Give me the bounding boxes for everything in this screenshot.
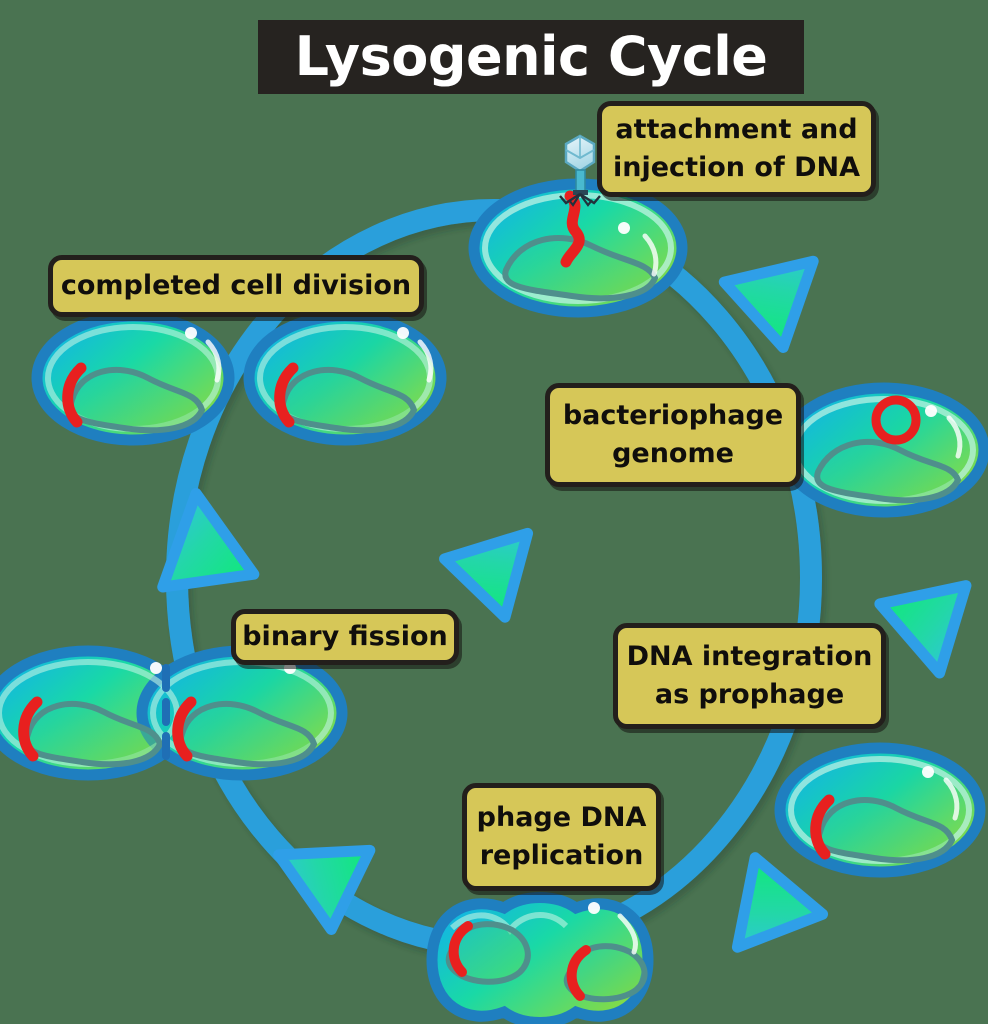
arrow-head-inner-top	[445, 504, 558, 617]
arrow-head-right	[880, 586, 983, 683]
label-dna-integration-as-prophage: DNA integration as prophage	[613, 623, 886, 729]
label-line: DNA integration	[627, 638, 873, 676]
label-completed-cell-division: completed cell division	[48, 255, 424, 317]
label-line: replication	[480, 837, 644, 875]
stage-integration-cell	[780, 748, 980, 872]
stage-genome-cell	[784, 388, 984, 512]
arrow-head-top-right	[724, 229, 842, 348]
label-line: as prophage	[655, 676, 844, 714]
stage-fission-cell	[0, 651, 342, 775]
label-line: injection of DNA	[613, 149, 860, 187]
label-binary-fission: binary fission	[231, 609, 459, 665]
label-line: genome	[612, 435, 734, 473]
label-attachment-and-injection: attachment and injection of DNA	[597, 101, 876, 197]
page-title: Lysogenic Cycle	[258, 20, 804, 94]
stage-attachment-cell	[474, 184, 682, 312]
label-phage-dna-replication: phage DNA replication	[462, 783, 661, 891]
label-bacteriophage-genome: bacteriophage genome	[545, 383, 801, 487]
label-line: completed cell division	[61, 272, 411, 300]
arrow-head-bottom-right	[704, 858, 823, 976]
label-line: phage DNA	[477, 799, 647, 837]
label-line: bacteriophage	[563, 397, 783, 435]
stage-replication-cell	[432, 898, 648, 1023]
arrow-head-left	[150, 487, 253, 587]
page-title-text: Lysogenic Cycle	[295, 30, 768, 84]
label-line: attachment and	[615, 111, 857, 149]
diagram-canvas: Lysogenic Cycle attachment and injection…	[0, 0, 988, 1024]
label-line: binary fission	[242, 623, 448, 651]
